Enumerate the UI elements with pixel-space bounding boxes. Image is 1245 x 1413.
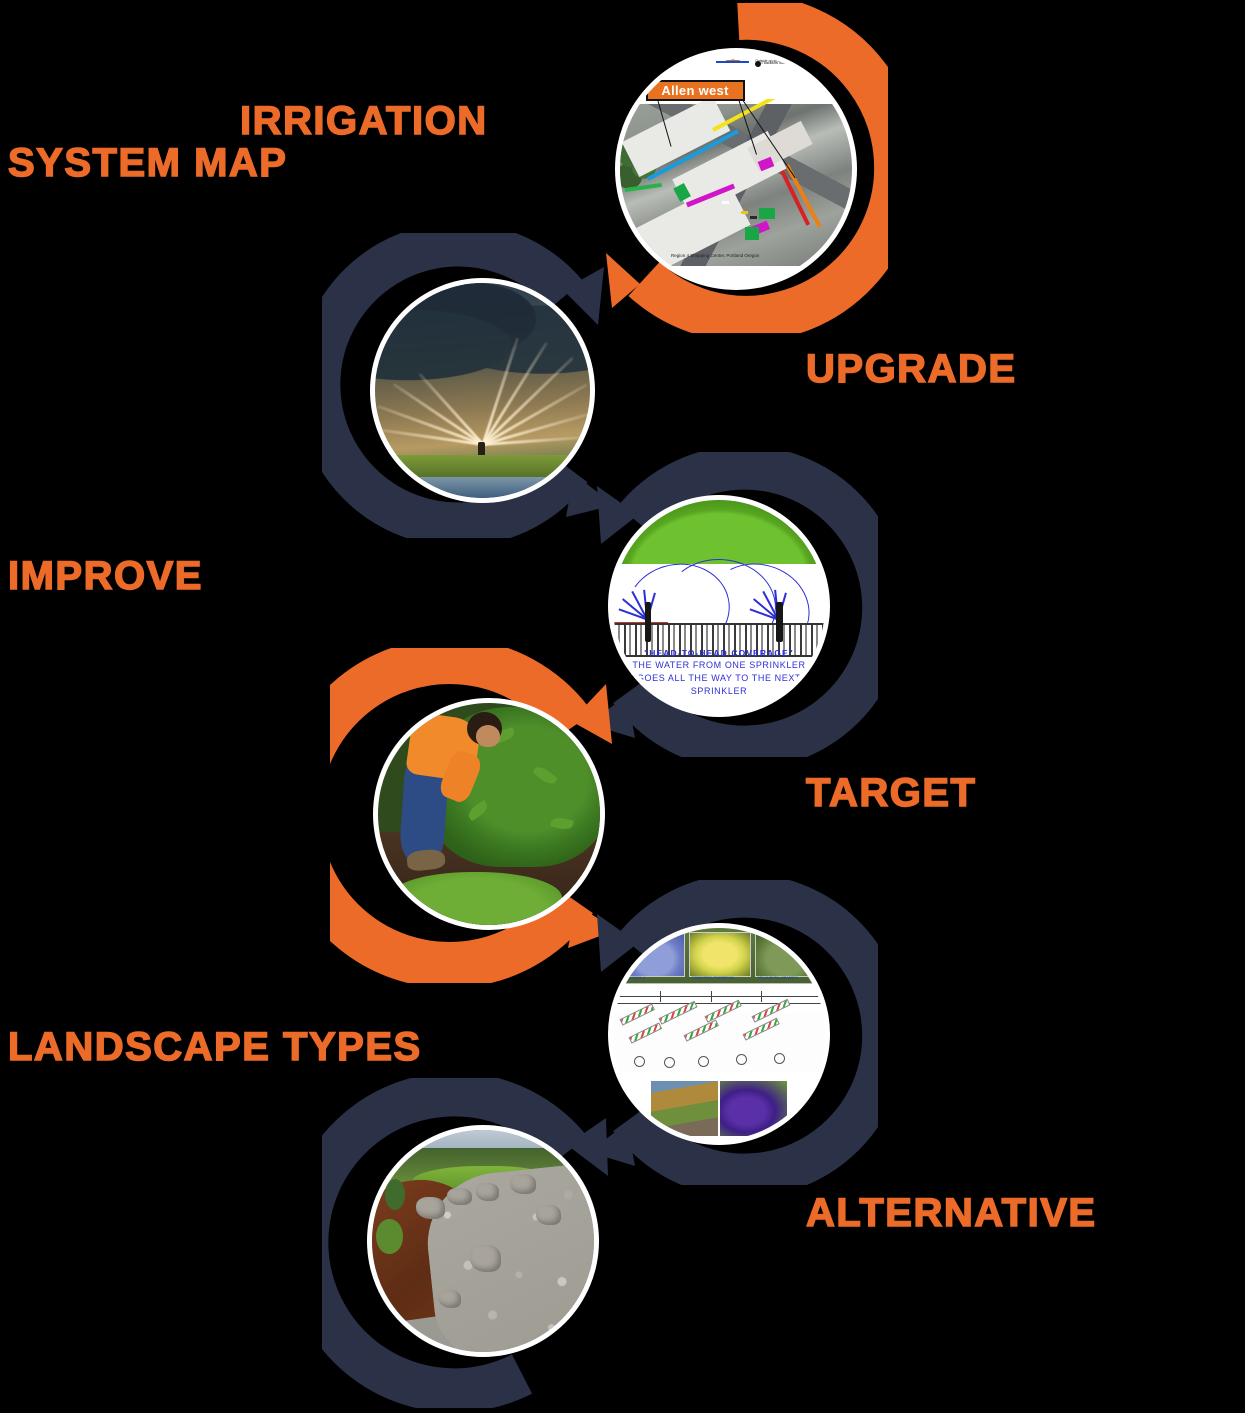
coverage-title: "HEAD-TO-HEAD COVERAGE" bbox=[617, 648, 821, 658]
garden-photo-iris bbox=[720, 1081, 787, 1136]
landscape-plan-board-image: LAVANDULA COREOPSIS / RUDBECKIA ORNAMENT… bbox=[613, 928, 825, 1140]
step-label-line1: TARGET bbox=[806, 771, 976, 815]
step-node-alternative bbox=[322, 1078, 622, 1408]
plant-photo-lavender bbox=[624, 932, 685, 976]
step-node-upgrade bbox=[322, 233, 622, 538]
step-label-target: TARGET bbox=[806, 772, 976, 814]
plant-caption-1: LAVANDULA bbox=[626, 976, 646, 980]
step-label-line2: SYSTEM MAP bbox=[8, 142, 488, 184]
garden-photo-border bbox=[651, 1081, 718, 1136]
map-callout-label: Allen west bbox=[661, 83, 728, 98]
sprinkler-spraying-lawn-image bbox=[375, 283, 590, 498]
plant-caption-2: COREOPSIS / RUDBECKIA bbox=[691, 976, 734, 980]
head-to-head-coverage-image: "HEAD-TO-HEAD COVERAGE" THE WATER FROM O… bbox=[613, 500, 825, 712]
legend-line-2: = backflow location bbox=[761, 61, 791, 65]
coverage-caption: "HEAD-TO-HEAD COVERAGE" THE WATER FROM O… bbox=[617, 648, 821, 696]
sprinkler-head-left-icon bbox=[645, 602, 651, 642]
sprinkler-head-right-icon bbox=[776, 602, 782, 642]
step-label-line1: LANDSCAPE TYPES bbox=[8, 1025, 422, 1069]
step-node-irrigation-system-map: Region 4 Shopping Center, Portland Orego… bbox=[588, 3, 888, 333]
plant-caption-3: ORNAMENTAL GRASSES bbox=[757, 976, 798, 980]
step-label-landscape-types: LANDSCAPE TYPES bbox=[8, 1026, 422, 1068]
step-label-line1: UPGRADE bbox=[806, 347, 1017, 391]
step-label-upgrade: UPGRADE bbox=[806, 348, 1017, 390]
step-label-line1: IMPROVE bbox=[8, 554, 203, 598]
plant-photo-yellow-flowers bbox=[689, 932, 750, 976]
map-logo-text: LANDS bbox=[803, 63, 817, 68]
worker-pruning-shrub-image bbox=[378, 703, 600, 925]
step-label-improve: IMPROVE bbox=[8, 555, 203, 597]
coverage-body-line3: SPRINKLER bbox=[617, 686, 821, 697]
step-label-line1: IRRIGATION bbox=[240, 100, 488, 142]
coverage-body-line2: GOES ALL THE WAY TO THE NEXT bbox=[617, 673, 821, 684]
step-label-line1: ALTERNATIVE bbox=[806, 1191, 1097, 1235]
plant-photo-grasses bbox=[755, 932, 816, 976]
map-callout-allen-west: Allen west bbox=[646, 80, 745, 102]
infographic-canvas: IRRIGATION SYSTEM MAP bbox=[0, 0, 1245, 1413]
map-credit-text: Region 4 Shopping Center, Portland Orego… bbox=[671, 253, 759, 258]
step-node-landscape-types: LAVANDULA COREOPSIS / RUDBECKIA ORNAMENT… bbox=[583, 880, 878, 1185]
aerial-irrigation-site-map-image: Region 4 Shopping Center, Portland Orego… bbox=[620, 53, 852, 285]
rock-gravel-xeriscape-image bbox=[372, 1130, 594, 1352]
step-label-irrigation-system-map: IRRIGATION SYSTEM MAP bbox=[8, 100, 488, 185]
aerial-photo-base: Region 4 Shopping Center, Portland Orego… bbox=[620, 104, 852, 266]
step-label-alternative: ALTERNATIVE bbox=[806, 1192, 1097, 1234]
coverage-body-line1: THE WATER FROM ONE SPRINKLER bbox=[617, 660, 821, 671]
